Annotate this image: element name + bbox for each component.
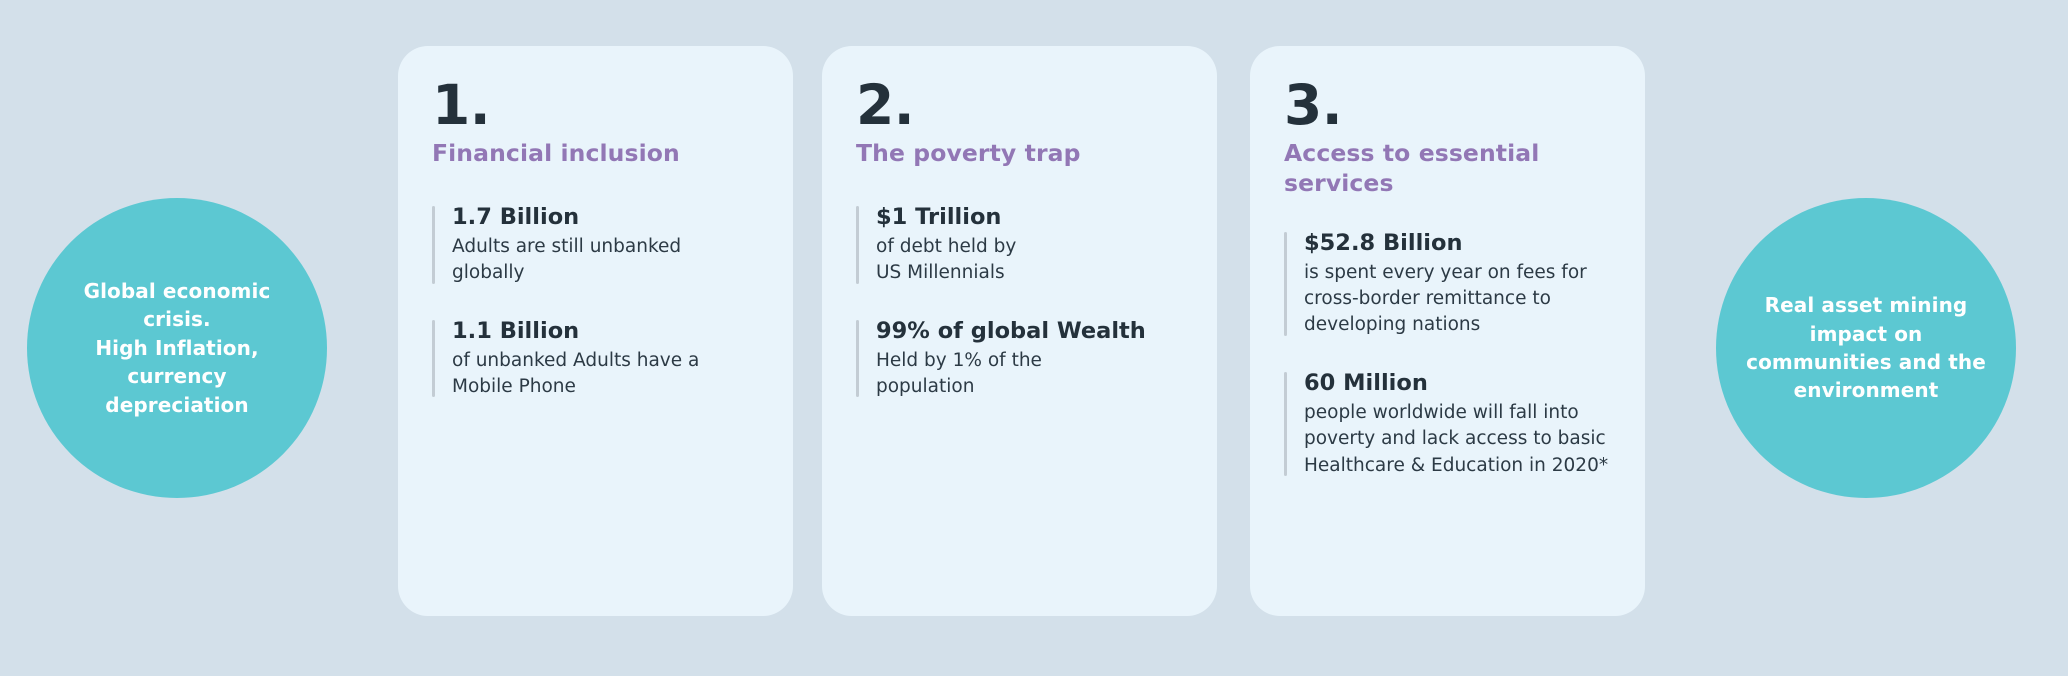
stat-block: 1.1 Billion of unbanked Adults have a Mo…: [432, 317, 759, 401]
stat-value: 1.7 Billion: [452, 203, 759, 232]
card-1-number: 1.: [432, 78, 759, 133]
stat-description: of debt held by US Millennials: [876, 234, 1183, 287]
right-context-circle: Real asset mining impact on communities …: [1716, 198, 2016, 498]
card-3-title: Access to essential services: [1284, 139, 1611, 199]
stat-description: is spent every year on fees for cross-bo…: [1304, 260, 1611, 339]
stat-accent-bar: [1284, 232, 1287, 336]
card-1-stats: 1.7 Billion Adults are still unbanked gl…: [432, 203, 759, 401]
stat-value: $52.8 Billion: [1304, 229, 1611, 258]
right-circle-text: Real asset mining impact on communities …: [1746, 291, 1986, 405]
problem-card-3: 3. Access to essential services $52.8 Bi…: [1250, 46, 1645, 616]
stat-description: of unbanked Adults have a Mobile Phone: [452, 348, 759, 401]
stat-block: 60 Million people worldwide will fall in…: [1284, 369, 1611, 479]
stat-description: Held by 1% of the population: [876, 348, 1183, 401]
left-context-circle: Global economic crisis. High Inflation, …: [27, 198, 327, 498]
stat-value: $1 Trillion: [876, 203, 1183, 232]
card-3-stats: $52.8 Billion is spent every year on fee…: [1284, 229, 1611, 479]
left-circle-text: Global economic crisis. High Inflation, …: [84, 277, 271, 419]
infographic-canvas: Global economic crisis. High Inflation, …: [0, 0, 2068, 676]
card-2-number: 2.: [856, 78, 1183, 133]
stat-accent-bar: [432, 206, 435, 284]
stat-value: 60 Million: [1304, 369, 1611, 398]
stat-block: $52.8 Billion is spent every year on fee…: [1284, 229, 1611, 339]
stat-accent-bar: [432, 320, 435, 398]
stat-description: Adults are still unbanked globally: [452, 234, 759, 287]
card-2-stats: $1 Trillion of debt held by US Millennia…: [856, 203, 1183, 401]
stat-accent-bar: [856, 206, 859, 284]
stat-block: $1 Trillion of debt held by US Millennia…: [856, 203, 1183, 287]
stat-value: 1.1 Billion: [452, 317, 759, 346]
problem-card-1: 1. Financial inclusion 1.7 Billion Adult…: [398, 46, 793, 616]
card-2-title: The poverty trap: [856, 139, 1183, 169]
stat-description: people worldwide will fall into poverty …: [1304, 400, 1611, 479]
stat-accent-bar: [1284, 372, 1287, 476]
problem-card-2: 2. The poverty trap $1 Trillion of debt …: [822, 46, 1217, 616]
stat-value: 99% of global Wealth: [876, 317, 1183, 346]
card-3-number: 3.: [1284, 78, 1611, 133]
card-1-title: Financial inclusion: [432, 139, 759, 169]
stat-block: 99% of global Wealth Held by 1% of the p…: [856, 317, 1183, 401]
stat-block: 1.7 Billion Adults are still unbanked gl…: [432, 203, 759, 287]
stat-accent-bar: [856, 320, 859, 398]
